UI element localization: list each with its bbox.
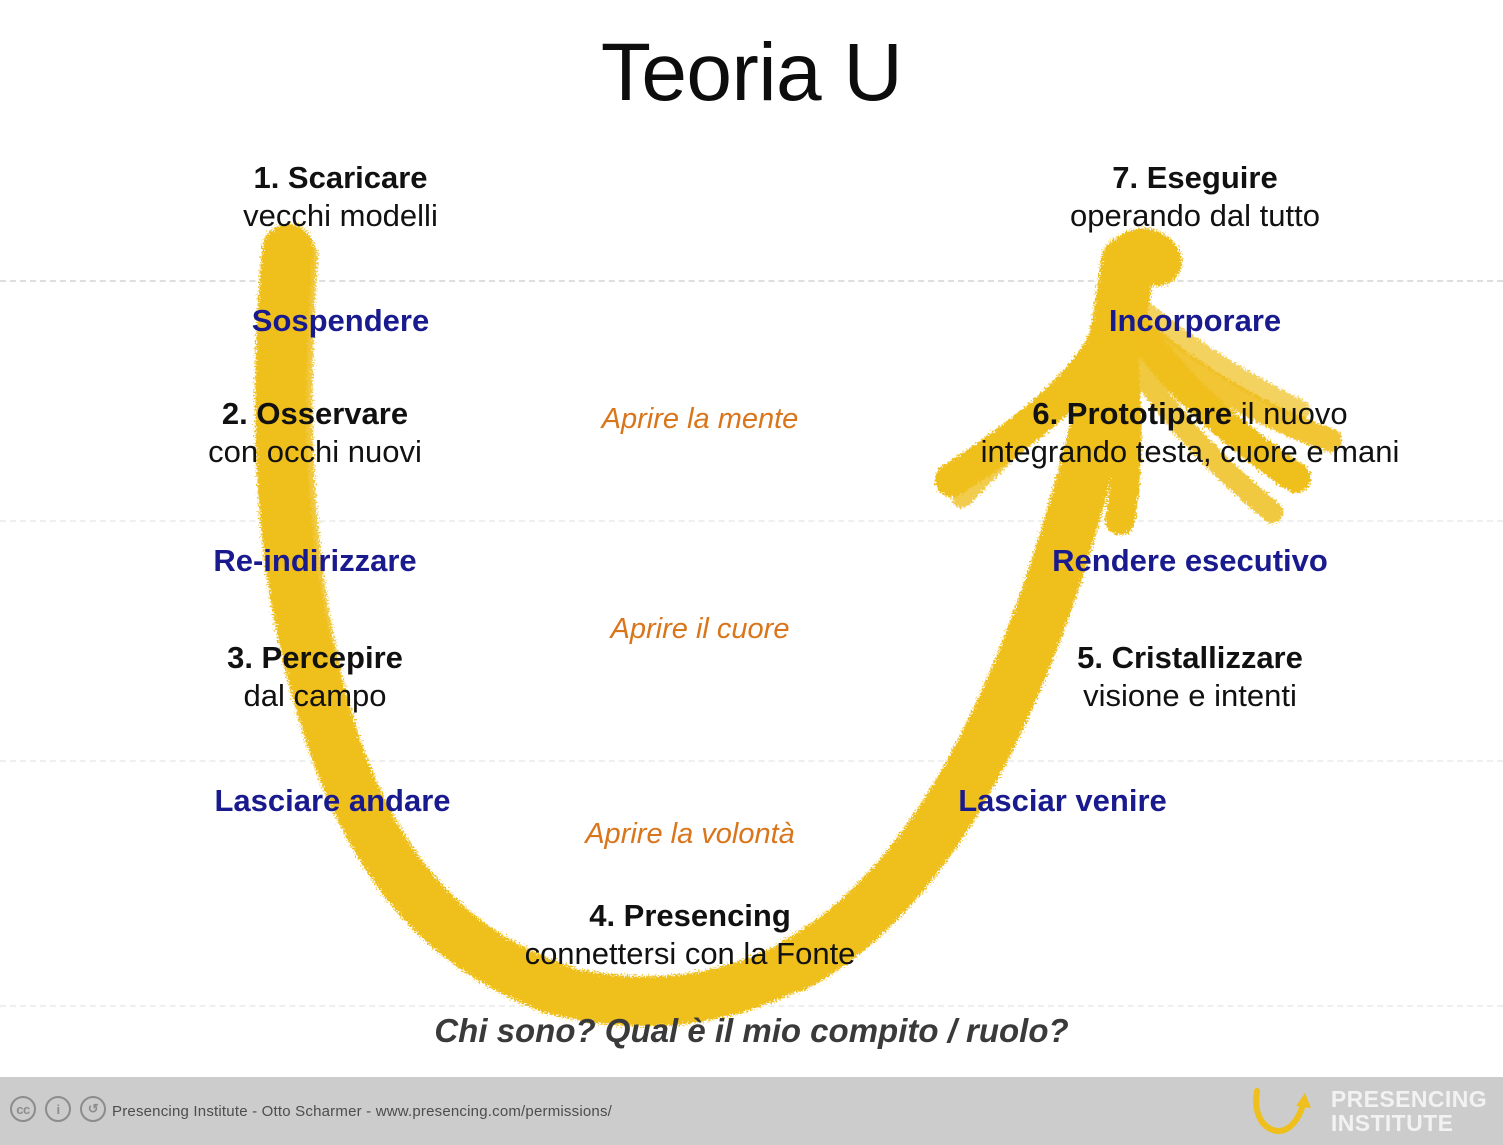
movement-re-indirizzare: Re-indirizzare — [95, 543, 535, 579]
step-6-prototipare: 6. Prototipare il nuovo integrando testa… — [930, 396, 1450, 470]
step-1-scaricare: 1. Scaricare vecchi modelli — [143, 160, 538, 234]
logo-wordmark: PRESENCING INSTITUTE — [1331, 1088, 1487, 1136]
step-4-subtitle: connettersi con la Fonte — [440, 936, 940, 972]
opening-heart: Aprire il cuore — [500, 613, 900, 647]
theory-u-slide: Teoria U 1. Scaricare vecchi modelli Sos… — [0, 0, 1503, 1145]
step-7-eseguire: 7. Eseguire operando dal tutto — [950, 160, 1440, 234]
step-4-presencing: 4. Presencing connettersi con la Fonte — [440, 898, 940, 972]
step-2-subtitle: con occhi nuovi — [95, 434, 535, 470]
cc-share-icon: ↺ — [80, 1096, 106, 1122]
step-6-heading-suffix: il nuovo — [1232, 396, 1347, 431]
logo-line-2: INSTITUTE — [1331, 1112, 1487, 1136]
step-7-heading: 7. Eseguire — [1112, 160, 1277, 195]
movement-sospendere: Sospendere — [143, 303, 538, 339]
opening-will: Aprire la volontà — [490, 818, 890, 852]
step-5-cristallizzare: 5. Cristallizzare visione e intenti — [930, 640, 1450, 714]
page-title: Teoria U — [0, 32, 1503, 114]
step-3-subtitle: dal campo — [95, 678, 535, 714]
footer-bar: cc i ↺ Presencing Institute - Otto Schar… — [0, 1077, 1503, 1145]
step-3-percepire: 3. Percepire dal campo — [95, 640, 535, 714]
presencing-institute-logo: PRESENCING INSTITUTE — [1245, 1085, 1487, 1139]
step-2-osservare: 2. Osservare con occhi nuovi — [95, 396, 535, 470]
movement-rendere-esecutivo: Rendere esecutivo — [930, 543, 1450, 579]
cc-by-icon: i — [45, 1096, 71, 1122]
presencing-u-logo-icon — [1245, 1085, 1319, 1139]
step-1-subtitle: vecchi modelli — [143, 198, 538, 234]
step-3-heading: 3. Percepire — [227, 640, 403, 675]
step-6-subtitle: integrando testa, cuore e mani — [930, 434, 1450, 470]
movement-lasciare-andare: Lasciare andare — [95, 783, 570, 819]
step-4-heading: 4. Presencing — [589, 898, 791, 933]
opening-mind: Aprire la mente — [500, 403, 900, 437]
copyright-credit: Presencing Institute - Otto Scharmer - w… — [112, 1103, 612, 1120]
logo-line-1: PRESENCING — [1331, 1088, 1487, 1112]
cc-icon: cc — [10, 1096, 36, 1122]
movement-incorporare: Incorporare — [950, 303, 1440, 339]
movement-lasciar-venire: Lasciar venire — [825, 783, 1300, 819]
step-2-heading: 2. Osservare — [222, 396, 408, 431]
creative-commons-icons: cc i ↺ — [10, 1096, 106, 1122]
step-5-heading: 5. Cristallizzare — [1077, 640, 1303, 675]
step-7-subtitle: operando dal tutto — [950, 198, 1440, 234]
step-5-subtitle: visione e intenti — [930, 678, 1450, 714]
reflective-question: Chi sono? Qual è il mio compito / ruolo? — [0, 1012, 1503, 1050]
step-6-heading: 6. Prototipare — [1032, 396, 1232, 431]
step-1-heading: 1. Scaricare — [253, 160, 427, 195]
